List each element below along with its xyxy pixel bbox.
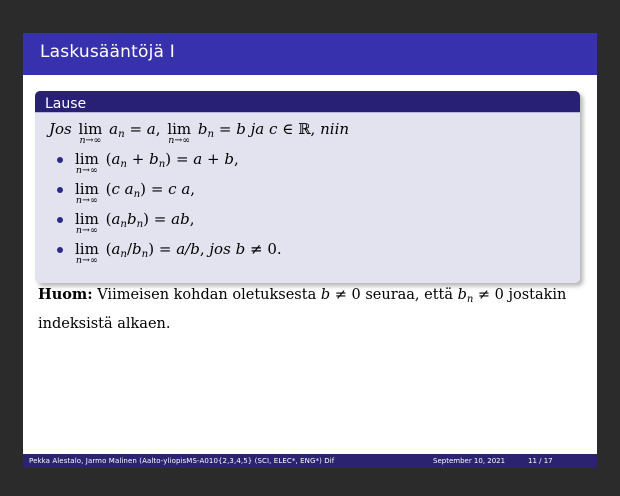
page-title: Laskusääntöjä I: [40, 42, 175, 62]
limit-operator: lim n→∞: [75, 242, 99, 257]
paren-close: ): [165, 150, 171, 168]
footer-date: September 10, 2021: [433, 457, 505, 465]
condition-value-zero: 0: [267, 240, 277, 258]
remark-not-equal-2: ≠: [478, 287, 490, 303]
term-b: b: [149, 150, 159, 168]
equals-symbol: =: [159, 240, 172, 258]
pdf-viewer: Laskusääntöjä I Lause Jos lim n→∞ an = a…: [0, 0, 620, 496]
paren-close: ): [140, 180, 146, 198]
term-b: b: [132, 240, 142, 258]
real-numbers-symbol: ℝ: [298, 120, 310, 138]
plus-symbol: +: [132, 150, 145, 168]
limit-operator-1: lim n→∞: [79, 122, 103, 137]
remark-variable-bn-subscript: n: [467, 294, 473, 305]
remark-paragraph: Huom: Viimeisen kohdan oletuksesta b ≠ 0…: [38, 283, 586, 336]
list-item: lim n→∞ (an + bn) = a + b,: [73, 150, 568, 180]
sequence-a: a: [109, 120, 118, 138]
theorem-block-heading: Lause: [35, 91, 580, 112]
limit-subscript: n→∞: [76, 166, 98, 176]
condition-word-jos: jos: [209, 240, 230, 258]
statement-comma-2: ,: [311, 120, 316, 138]
remark-text-2: seuraa, että: [365, 287, 453, 303]
line-tail: ,: [234, 150, 239, 168]
element-of-symbol: ∈: [282, 120, 293, 138]
statement-comma-1: ,: [156, 120, 161, 138]
line-tail: ,: [190, 210, 195, 228]
term-b: b: [127, 210, 137, 228]
term-a-subscript: n: [120, 159, 127, 170]
limit-rules-list: lim n→∞ (an + bn) = a + b, lim: [47, 150, 568, 270]
paren-close: ): [143, 210, 149, 228]
right-hand-side: a + b: [193, 150, 234, 168]
remark-label: Huom:: [38, 286, 93, 303]
condition-variable-b: b: [236, 240, 246, 258]
list-item: lim n→∞ (c an) = c a,: [73, 180, 568, 210]
statement-suffix-niin: niin: [320, 120, 349, 138]
conjunction-ja: ja: [251, 120, 265, 138]
remark-text-1: Viimeisen kohdan oletuksesta: [97, 287, 316, 303]
sequence-a-subscript: n: [118, 129, 125, 140]
limit-operator: lim n→∞: [75, 152, 99, 167]
paren-close: ): [148, 240, 154, 258]
bullet-dot-icon: [57, 157, 63, 163]
remark-zero-1: 0: [352, 287, 361, 303]
line-tail: .: [277, 240, 282, 258]
limit-subscript: n→∞: [76, 226, 98, 236]
bullet-dot-icon: [57, 187, 63, 193]
equals-1: =: [129, 120, 142, 138]
equals-symbol: =: [154, 210, 167, 228]
slide-title-bar: Laskusääntöjä I: [23, 33, 597, 75]
limit-subscript: n→∞: [76, 196, 98, 206]
right-hand-side: a/b: [176, 240, 200, 258]
sequence-b-subscript: n: [208, 129, 215, 140]
limit-operator-2: lim n→∞: [167, 122, 191, 137]
footer-authors-course: Pekka Alestalo, Jarmo Malinen (Aalto-yli…: [29, 457, 334, 465]
limit-subscript: n→∞: [79, 136, 101, 146]
list-item: lim n→∞ (anbn) = ab,: [73, 210, 568, 240]
statement-prefix: Jos: [49, 120, 72, 138]
term-a: a: [125, 180, 134, 198]
limit-subscript: n→∞: [168, 136, 190, 146]
sequence-b: b: [198, 120, 208, 138]
bullet-dot-icon: [57, 247, 63, 253]
limit-subscript: n→∞: [76, 256, 98, 266]
list-item: lim n→∞ (an/bn) = a/b, jos b ≠ 0.: [73, 240, 568, 270]
not-equal-symbol: ≠: [250, 240, 263, 258]
condition-comma: ,: [200, 240, 205, 258]
remark-not-equal-1: ≠: [335, 287, 347, 303]
remark-variable-b: b: [321, 287, 330, 303]
footer-page-number: 11 / 17: [528, 457, 553, 465]
remark-zero-2: 0: [495, 287, 504, 303]
theorem-block-heading-label: Lause: [45, 96, 86, 112]
right-hand-side: c a: [168, 180, 190, 198]
theorem-block: Lause Jos lim n→∞ an = a, lim n→∞: [35, 91, 580, 283]
limit-operator: lim n→∞: [75, 212, 99, 227]
limit-value-a: a: [147, 120, 156, 138]
remark-variable-bn: b: [458, 287, 467, 303]
coefficient-c: c: [111, 180, 119, 198]
theorem-block-body: Jos lim n→∞ an = a, lim n→∞ bn = b ja: [35, 112, 580, 283]
bullet-dot-icon: [57, 217, 63, 223]
slide-footer: Pekka Alestalo, Jarmo Malinen (Aalto-yli…: [23, 454, 597, 468]
limit-value-b: b: [236, 120, 246, 138]
theorem-statement: Jos lim n→∞ an = a, lim n→∞ bn = b ja: [49, 120, 568, 146]
constant-c: c: [269, 120, 277, 138]
equals-symbol: =: [151, 180, 164, 198]
right-hand-side: ab: [171, 210, 190, 228]
equals-2: =: [219, 120, 232, 138]
limit-operator: lim n→∞: [75, 182, 99, 197]
line-tail: ,: [190, 180, 195, 198]
slide-canvas: Laskusääntöjä I Lause Jos lim n→∞ an = a…: [23, 33, 597, 468]
equals-symbol: =: [176, 150, 189, 168]
